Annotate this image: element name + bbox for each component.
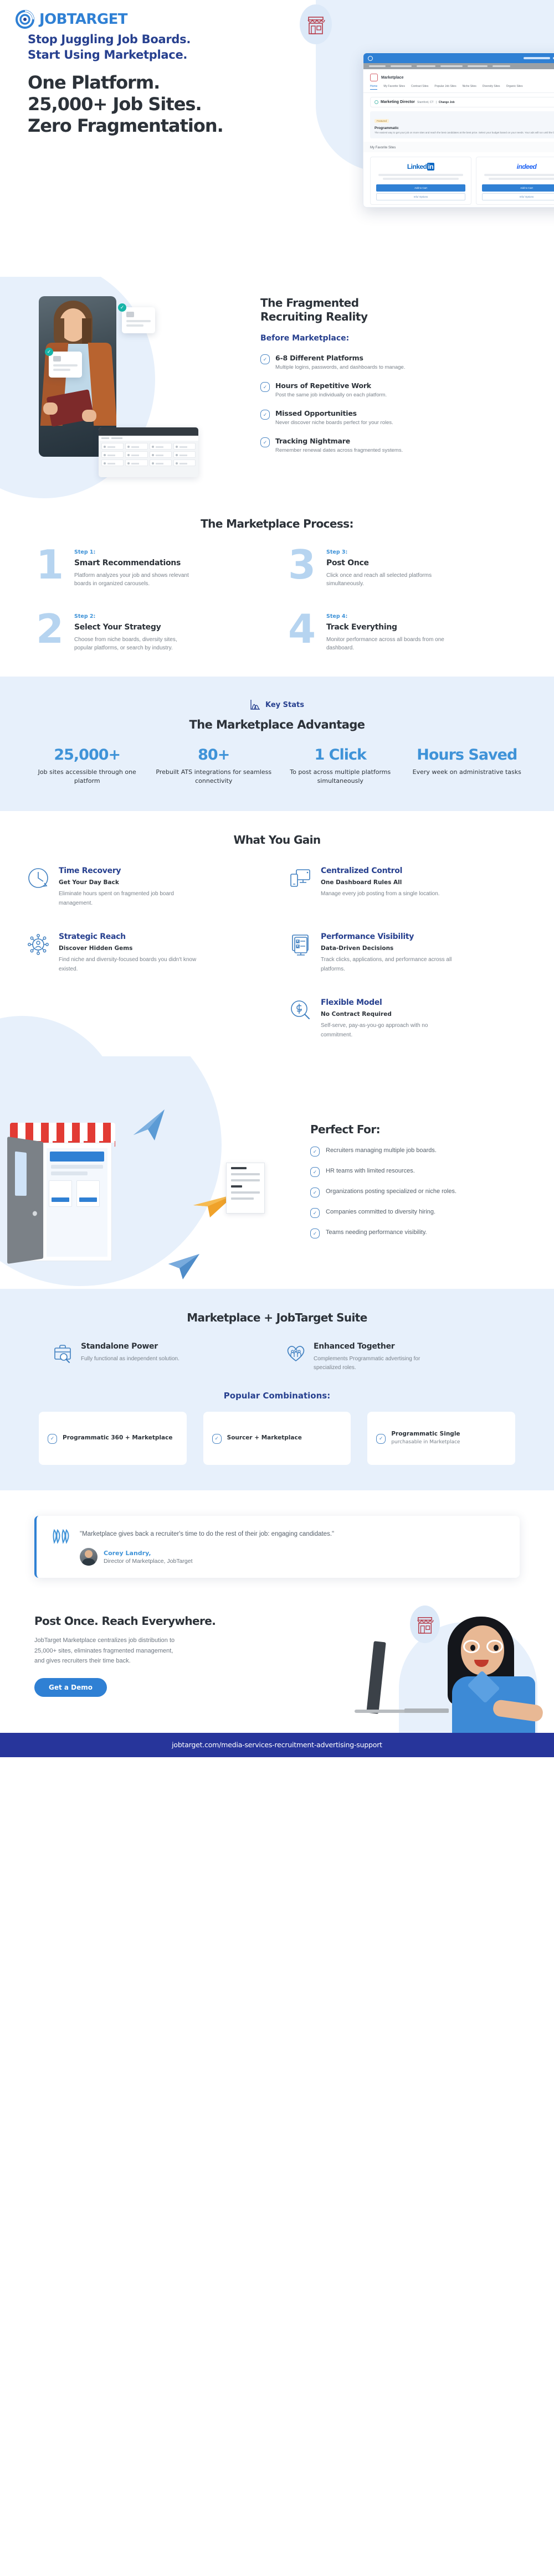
item-body: Never discover niche boards perfect for … bbox=[275, 420, 393, 426]
favorites-section-label: My Favorite Sites bbox=[363, 142, 554, 152]
step-heading: Track Everything bbox=[326, 623, 448, 632]
bell-curve-chart-icon bbox=[250, 699, 261, 711]
dashboard-topbar bbox=[363, 53, 554, 63]
gain-body: Self-serve, pay-as-you-go approach with … bbox=[321, 1021, 459, 1040]
infographic-page: JOBTARGET Stop Juggling Job Boards. Star… bbox=[0, 0, 554, 1757]
floating-card-top: ✓ bbox=[122, 307, 155, 333]
cta-heading: Post Once. Reach Everywhere. bbox=[34, 1614, 217, 1628]
network-user-icon bbox=[27, 932, 51, 957]
gain-heading: Time Recovery bbox=[59, 866, 197, 875]
stat-item: Hours Saved Every week on administrative… bbox=[407, 747, 528, 786]
suite-title: Marketplace + JobTarget Suite bbox=[0, 1311, 554, 1324]
gain-item-strategic-reach: Strategic Reach Discover Hidden Gems Fin… bbox=[27, 932, 270, 974]
linkedin-logo: Linkedin bbox=[374, 163, 468, 171]
dollar-magnifier-icon bbox=[289, 998, 313, 1023]
gain-body: Manage every job posting from a single l… bbox=[321, 890, 440, 899]
cta-section: Post Once. Reach Everywhere. JobTarget M… bbox=[0, 1600, 554, 1733]
suite-body: Fully functional as independent solution… bbox=[81, 1355, 179, 1364]
dashboard-job-bar: Marketing Director Stamford, CT | Change… bbox=[370, 97, 554, 107]
step-body: Choose from niche boards, diversity site… bbox=[74, 636, 196, 652]
hero-kicker: Stop Juggling Job Boards. Start Using Ma… bbox=[28, 32, 260, 63]
storefront-icon-badge bbox=[300, 4, 332, 44]
suite-item-standalone: Standalone Power Fully functional as ind… bbox=[53, 1342, 269, 1372]
item-body: Remember renewal dates across fragmented… bbox=[275, 447, 403, 453]
suite-body: Complements Programmatic advertising for… bbox=[314, 1355, 424, 1372]
process-step: 1 Step 1: Smart Recommendations Platform… bbox=[33, 549, 269, 588]
item-text: Recruiters managing multiple job boards. bbox=[326, 1146, 437, 1155]
add-to-cart-button[interactable]: Add to Cart bbox=[482, 184, 554, 192]
stat-value: 80+ bbox=[153, 747, 275, 763]
tab-diversity-sites[interactable]: Diversity Sites bbox=[483, 85, 500, 90]
gain-item-time-recovery: Time Recovery Get Your Day Back Eliminat… bbox=[27, 866, 270, 908]
gain-heading: Strategic Reach bbox=[59, 932, 197, 941]
what-you-gain-section: What You Gain Time Recovery Get Your Day… bbox=[0, 811, 554, 1056]
hero-headline: One Platform. 25,000+ Job Sites. Zero Fr… bbox=[28, 72, 288, 137]
item-body: Multiple logins, passwords, and dashboar… bbox=[275, 364, 405, 370]
quote-icon bbox=[52, 1529, 71, 1566]
check-icon: ✓ bbox=[45, 348, 53, 356]
dashboard-header: Marketplace United States bbox=[363, 69, 554, 85]
shop-interior-screen bbox=[47, 1148, 107, 1257]
tab-contract-sites[interactable]: Contract Sites bbox=[411, 85, 428, 90]
check-icon: ✓ bbox=[118, 303, 126, 312]
promo-body: The easiest way to get your job on more … bbox=[375, 131, 554, 135]
testimonial-text: "Marketplace gives back a recruiter's ti… bbox=[80, 1529, 334, 1539]
stat-item: 80+ Prebuilt ATS integrations for seamle… bbox=[153, 747, 275, 786]
add-to-cart-button[interactable]: Add to Cart bbox=[376, 184, 465, 192]
item-text: Companies committed to diversity hiring. bbox=[326, 1207, 435, 1217]
hero-section: JOBTARGET Stop Juggling Job Boards. Star… bbox=[0, 0, 554, 277]
marketplace-suite-section: Marketplace + JobTarget Suite Standalone… bbox=[0, 1289, 554, 1490]
stat-caption: Every week on administrative tasks bbox=[407, 768, 528, 777]
briefcase-search-icon bbox=[53, 1342, 74, 1363]
gain-body: Find niche and diversity-focused boards … bbox=[59, 956, 197, 974]
check-circle-icon: ✓ bbox=[310, 1167, 320, 1177]
check-circle-icon: ✓ bbox=[212, 1434, 222, 1444]
combo-title-text: Sourcer + Marketplace bbox=[227, 1434, 302, 1443]
check-circle-icon: ✓ bbox=[310, 1228, 320, 1238]
cta-content: Post Once. Reach Everywhere. JobTarget M… bbox=[34, 1614, 217, 1696]
perfect-for-content: Perfect For: ✓ Recruiters managing multi… bbox=[310, 1123, 532, 1238]
info-icon bbox=[375, 100, 378, 104]
perfect-for-item: ✓ HR teams with limited resources. bbox=[310, 1166, 532, 1177]
step-number: 3 bbox=[285, 549, 319, 580]
logo-wordmark: JOBTARGET bbox=[39, 11, 127, 28]
tab-organic-sites[interactable]: Organic Sites bbox=[506, 85, 523, 90]
check-circle-icon: ✓ bbox=[376, 1434, 386, 1444]
gain-subheading: No Contract Required bbox=[321, 1011, 459, 1018]
perfect-for-section: Perfect For: ✓ Recruiters managing multi… bbox=[0, 1056, 554, 1289]
process-grid: 1 Step 1: Smart Recommendations Platform… bbox=[0, 549, 554, 652]
step-body: Platform analyzes your job and shows rel… bbox=[74, 571, 196, 588]
mini-dashboard-mock bbox=[99, 427, 198, 477]
gain-item-performance-visibility: Performance Visibility Data-Driven Decis… bbox=[289, 932, 532, 974]
stat-value: Hours Saved bbox=[407, 747, 528, 763]
check-circle-icon: ✓ bbox=[260, 382, 270, 392]
process-title: The Marketplace Process: bbox=[0, 517, 554, 530]
gain-heading: Centralized Control bbox=[321, 866, 440, 875]
indeed-logo: indeed bbox=[480, 163, 554, 171]
dashboard-promo-card: Featured Programmatic The easiest way to… bbox=[370, 111, 554, 138]
gain-body: Track clicks, applications, and performa… bbox=[321, 956, 459, 974]
suite-heading: Enhanced Together bbox=[314, 1342, 424, 1351]
gain-subheading: One Dashboard Rules All bbox=[321, 879, 440, 886]
storefront-icon bbox=[306, 14, 325, 35]
step-heading: Select Your Strategy bbox=[74, 623, 196, 632]
devices-icon bbox=[289, 866, 313, 891]
perfect-for-item: ✓ Organizations posting specialized or n… bbox=[310, 1187, 532, 1197]
gain-subheading: Data-Driven Decisions bbox=[321, 945, 459, 952]
check-circle-icon: ✓ bbox=[48, 1434, 57, 1444]
step-number: 1 bbox=[33, 549, 66, 580]
shop-door bbox=[7, 1137, 43, 1264]
stat-caption: Job sites accessible through one platfor… bbox=[27, 768, 148, 786]
tab-popular-job-sites[interactable]: Popular Job Sites bbox=[434, 85, 456, 90]
featured-badge: Featured bbox=[375, 119, 389, 123]
info-options-button[interactable]: Info/ Options bbox=[482, 193, 554, 200]
paper-plane-icon bbox=[130, 1106, 169, 1148]
item-text: Teams needing performance visibility. bbox=[326, 1228, 427, 1237]
recruiter-photo-group: ✓ ✓ bbox=[39, 296, 116, 457]
marketplace-icon bbox=[370, 74, 378, 81]
fragmented-subtitle: Before Marketplace: bbox=[260, 334, 521, 343]
check-circle-icon: ✓ bbox=[310, 1208, 320, 1218]
marketplace-dashboard-screenshot: Marketplace United States Home My Favori… bbox=[363, 53, 554, 208]
tab-niche-sites[interactable]: Niche Sites bbox=[463, 85, 476, 90]
item-text: Organizations posting specialized or nic… bbox=[326, 1187, 456, 1196]
author-name: Corey Landry, bbox=[104, 1550, 192, 1557]
jobtarget-logo[interactable]: JOBTARGET bbox=[16, 10, 127, 29]
fragmented-item: ✓ Missed Opportunities Never discover ni… bbox=[260, 409, 521, 426]
info-options-button[interactable]: Info/ Options bbox=[376, 193, 465, 200]
get-a-demo-button[interactable]: Get a Demo bbox=[34, 1678, 107, 1697]
step-label: Step 2: bbox=[74, 613, 196, 620]
item-heading: Hours of Repetitive Work bbox=[275, 381, 387, 390]
cta-body: JobTarget Marketplace centralizes job di… bbox=[34, 1635, 178, 1665]
combinations-grid: ✓ Programmatic 360 + Marketplace ✓ Sourc… bbox=[0, 1412, 554, 1465]
monitor-illustration bbox=[366, 1641, 386, 1715]
process-step: 2 Step 2: Select Your Strategy Choose fr… bbox=[33, 613, 269, 652]
suite-heading: Standalone Power bbox=[81, 1342, 179, 1351]
combo-main-text: Programmatic Single bbox=[391, 1431, 460, 1437]
stat-caption: To post across multiple platforms simult… bbox=[280, 768, 401, 786]
fragmented-item: ✓ Tracking Nightmare Remember renewal da… bbox=[260, 437, 521, 453]
combo-card[interactable]: ✓ Sourcer + Marketplace bbox=[203, 1412, 351, 1465]
target-icon bbox=[16, 10, 34, 29]
process-step: 4 Step 4: Track Everything Monitor perfo… bbox=[285, 613, 521, 652]
step-body: Click once and reach all selected platfo… bbox=[326, 571, 448, 588]
topbar-pill bbox=[524, 57, 550, 59]
promo-title: Programmatic bbox=[375, 126, 554, 130]
check-circle-icon: ✓ bbox=[310, 1147, 320, 1157]
step-label: Step 3: bbox=[326, 549, 448, 555]
resume-document-icon bbox=[226, 1163, 265, 1214]
perfect-for-item: ✓ Recruiters managing multiple job board… bbox=[310, 1146, 532, 1157]
tab-my-favorite-sites[interactable]: My Favorite Sites bbox=[383, 85, 405, 90]
perfect-for-title: Perfect For: bbox=[310, 1123, 532, 1136]
testimonial-author: Corey Landry, Director of Marketplace, J… bbox=[80, 1548, 334, 1566]
dashboard-tabs[interactable]: Home My Favorite Sites Contract Sites Po… bbox=[363, 85, 554, 93]
checklist-monitor-icon bbox=[289, 932, 313, 957]
gain-subheading: Discover Hidden Gems bbox=[59, 945, 197, 952]
stat-value: 25,000+ bbox=[27, 747, 148, 763]
combo-card[interactable]: ✓ Programmatic 360 + Marketplace bbox=[39, 1412, 187, 1465]
item-heading: 6-8 Different Platforms bbox=[275, 354, 405, 362]
site-card-linkedin[interactable]: Linkedin Add to Cart Info/ Options bbox=[370, 157, 471, 205]
fragmented-title: The Fragmented Recruiting Reality bbox=[260, 296, 521, 324]
combo-card[interactable]: ✓ Programmatic Single purchasable in Mar… bbox=[367, 1412, 515, 1465]
gain-item-centralized-control: Centralized Control One Dashboard Rules … bbox=[289, 866, 532, 908]
step-body: Monitor performance across all boards fr… bbox=[326, 636, 448, 652]
dashboard-app-name: Marketplace bbox=[381, 76, 403, 80]
author-role: Director of Marketplace, JobTarget bbox=[104, 1558, 192, 1565]
combo-title-text: Programmatic 360 + Marketplace bbox=[63, 1434, 172, 1443]
footer-bar: jobtarget.com/media-services-recruitment… bbox=[0, 1733, 554, 1757]
perfect-for-item: ✓ Teams needing performance visibility. bbox=[310, 1228, 532, 1238]
floating-card-left: ✓ bbox=[49, 352, 82, 378]
storefront-icon bbox=[416, 1614, 434, 1634]
storefront-illustration bbox=[10, 1123, 115, 1261]
check-circle-icon: ✓ bbox=[260, 410, 270, 420]
perfect-for-item: ✓ Companies committed to diversity hirin… bbox=[310, 1207, 532, 1218]
fragmented-reality-section: ✓ ✓ The Fragmented Recruiting Reality Be… bbox=[0, 277, 554, 498]
step-heading: Post Once bbox=[326, 559, 448, 567]
avatar bbox=[80, 1548, 98, 1566]
check-circle-icon: ✓ bbox=[310, 1188, 320, 1197]
step-number: 4 bbox=[285, 613, 319, 644]
step-heading: Smart Recommendations bbox=[74, 559, 196, 567]
stat-item: 25,000+ Job sites accessible through one… bbox=[27, 747, 148, 786]
paper-plane-icon bbox=[166, 1253, 203, 1284]
gain-title: What You Gain bbox=[0, 833, 554, 846]
stat-caption: Prebuilt ATS integrations for seamless c… bbox=[153, 768, 275, 786]
item-heading: Missed Opportunities bbox=[275, 409, 393, 417]
dashboard-navbar bbox=[363, 63, 554, 69]
gain-grid: Time Recovery Get Your Day Back Eliminat… bbox=[0, 866, 554, 1040]
change-job-link[interactable]: Change Job bbox=[439, 101, 455, 104]
popular-combinations-title: Popular Combinations: bbox=[0, 1391, 554, 1401]
combo-title-text: Programmatic Single purchasable in Marke… bbox=[391, 1430, 460, 1446]
stat-value: 1 Click bbox=[280, 747, 401, 763]
cta-illustration bbox=[321, 1600, 554, 1733]
clock-icon bbox=[27, 866, 51, 891]
stats-title: The Marketplace Advantage bbox=[0, 718, 554, 731]
site-card-indeed[interactable]: Easy indeed Add to Cart Info/ Options bbox=[476, 157, 554, 205]
stat-item: 1 Click To post across multiple platform… bbox=[280, 747, 401, 786]
check-circle-icon: ✓ bbox=[260, 354, 270, 364]
dashboard-site-cards: Linkedin Add to Cart Info/ Options Easy … bbox=[363, 152, 554, 208]
process-step: 3 Step 3: Post Once Click once and reach… bbox=[285, 549, 521, 588]
job-location: Stamford, CT bbox=[417, 101, 434, 104]
gain-body: Eliminate hours spent on fragmented job … bbox=[59, 890, 197, 908]
check-circle-icon: ✓ bbox=[260, 437, 270, 447]
dashboard-logo-icon bbox=[368, 56, 373, 61]
job-title: Marketing Director bbox=[381, 100, 415, 104]
suite-grid: Standalone Power Fully functional as ind… bbox=[0, 1342, 554, 1372]
tab-home[interactable]: Home bbox=[370, 85, 377, 90]
step-number: 2 bbox=[33, 613, 66, 644]
gain-heading: Flexible Model bbox=[321, 998, 459, 1007]
marketplace-process-section: The Marketplace Process: 1 Step 1: Smart… bbox=[0, 498, 554, 677]
item-body: Post the same job individually on each p… bbox=[275, 392, 387, 398]
step-label: Step 4: bbox=[326, 613, 448, 620]
combo-sub-text: purchasable in Marketplace bbox=[391, 1439, 460, 1447]
gain-subheading: Get Your Day Back bbox=[59, 879, 197, 886]
suite-item-enhanced: Enhanced Together Complements Programmat… bbox=[285, 1342, 501, 1372]
fragmented-item: ✓ Hours of Repetitive Work Post the same… bbox=[260, 381, 521, 398]
testimonial-section: "Marketplace gives back a recruiter's ti… bbox=[0, 1490, 554, 1600]
step-label: Step 1: bbox=[74, 549, 196, 555]
fragmented-item: ✓ 6-8 Different Platforms Multiple login… bbox=[260, 354, 521, 370]
key-stats-section: Key Stats The Marketplace Advantage 25,0… bbox=[0, 677, 554, 811]
item-text: HR teams with limited resources. bbox=[326, 1166, 415, 1176]
fragmented-content: The Fragmented Recruiting Reality Before… bbox=[260, 296, 521, 453]
person-illustration bbox=[432, 1617, 537, 1716]
key-stats-eyebrow: Key Stats bbox=[0, 699, 554, 711]
footer-url[interactable]: jobtarget.com/media-services-recruitment… bbox=[172, 1741, 382, 1749]
testimonial-card: "Marketplace gives back a recruiter's ti… bbox=[34, 1516, 520, 1578]
heart-people-icon bbox=[285, 1342, 306, 1363]
key-stats-label: Key Stats bbox=[265, 701, 304, 709]
stats-grid: 25,000+ Job sites accessible through one… bbox=[0, 747, 554, 786]
gain-heading: Performance Visibility bbox=[321, 932, 459, 941]
gain-item-flexible-model: Flexible Model No Contract Required Self… bbox=[289, 998, 532, 1040]
item-heading: Tracking Nightmare bbox=[275, 437, 403, 445]
